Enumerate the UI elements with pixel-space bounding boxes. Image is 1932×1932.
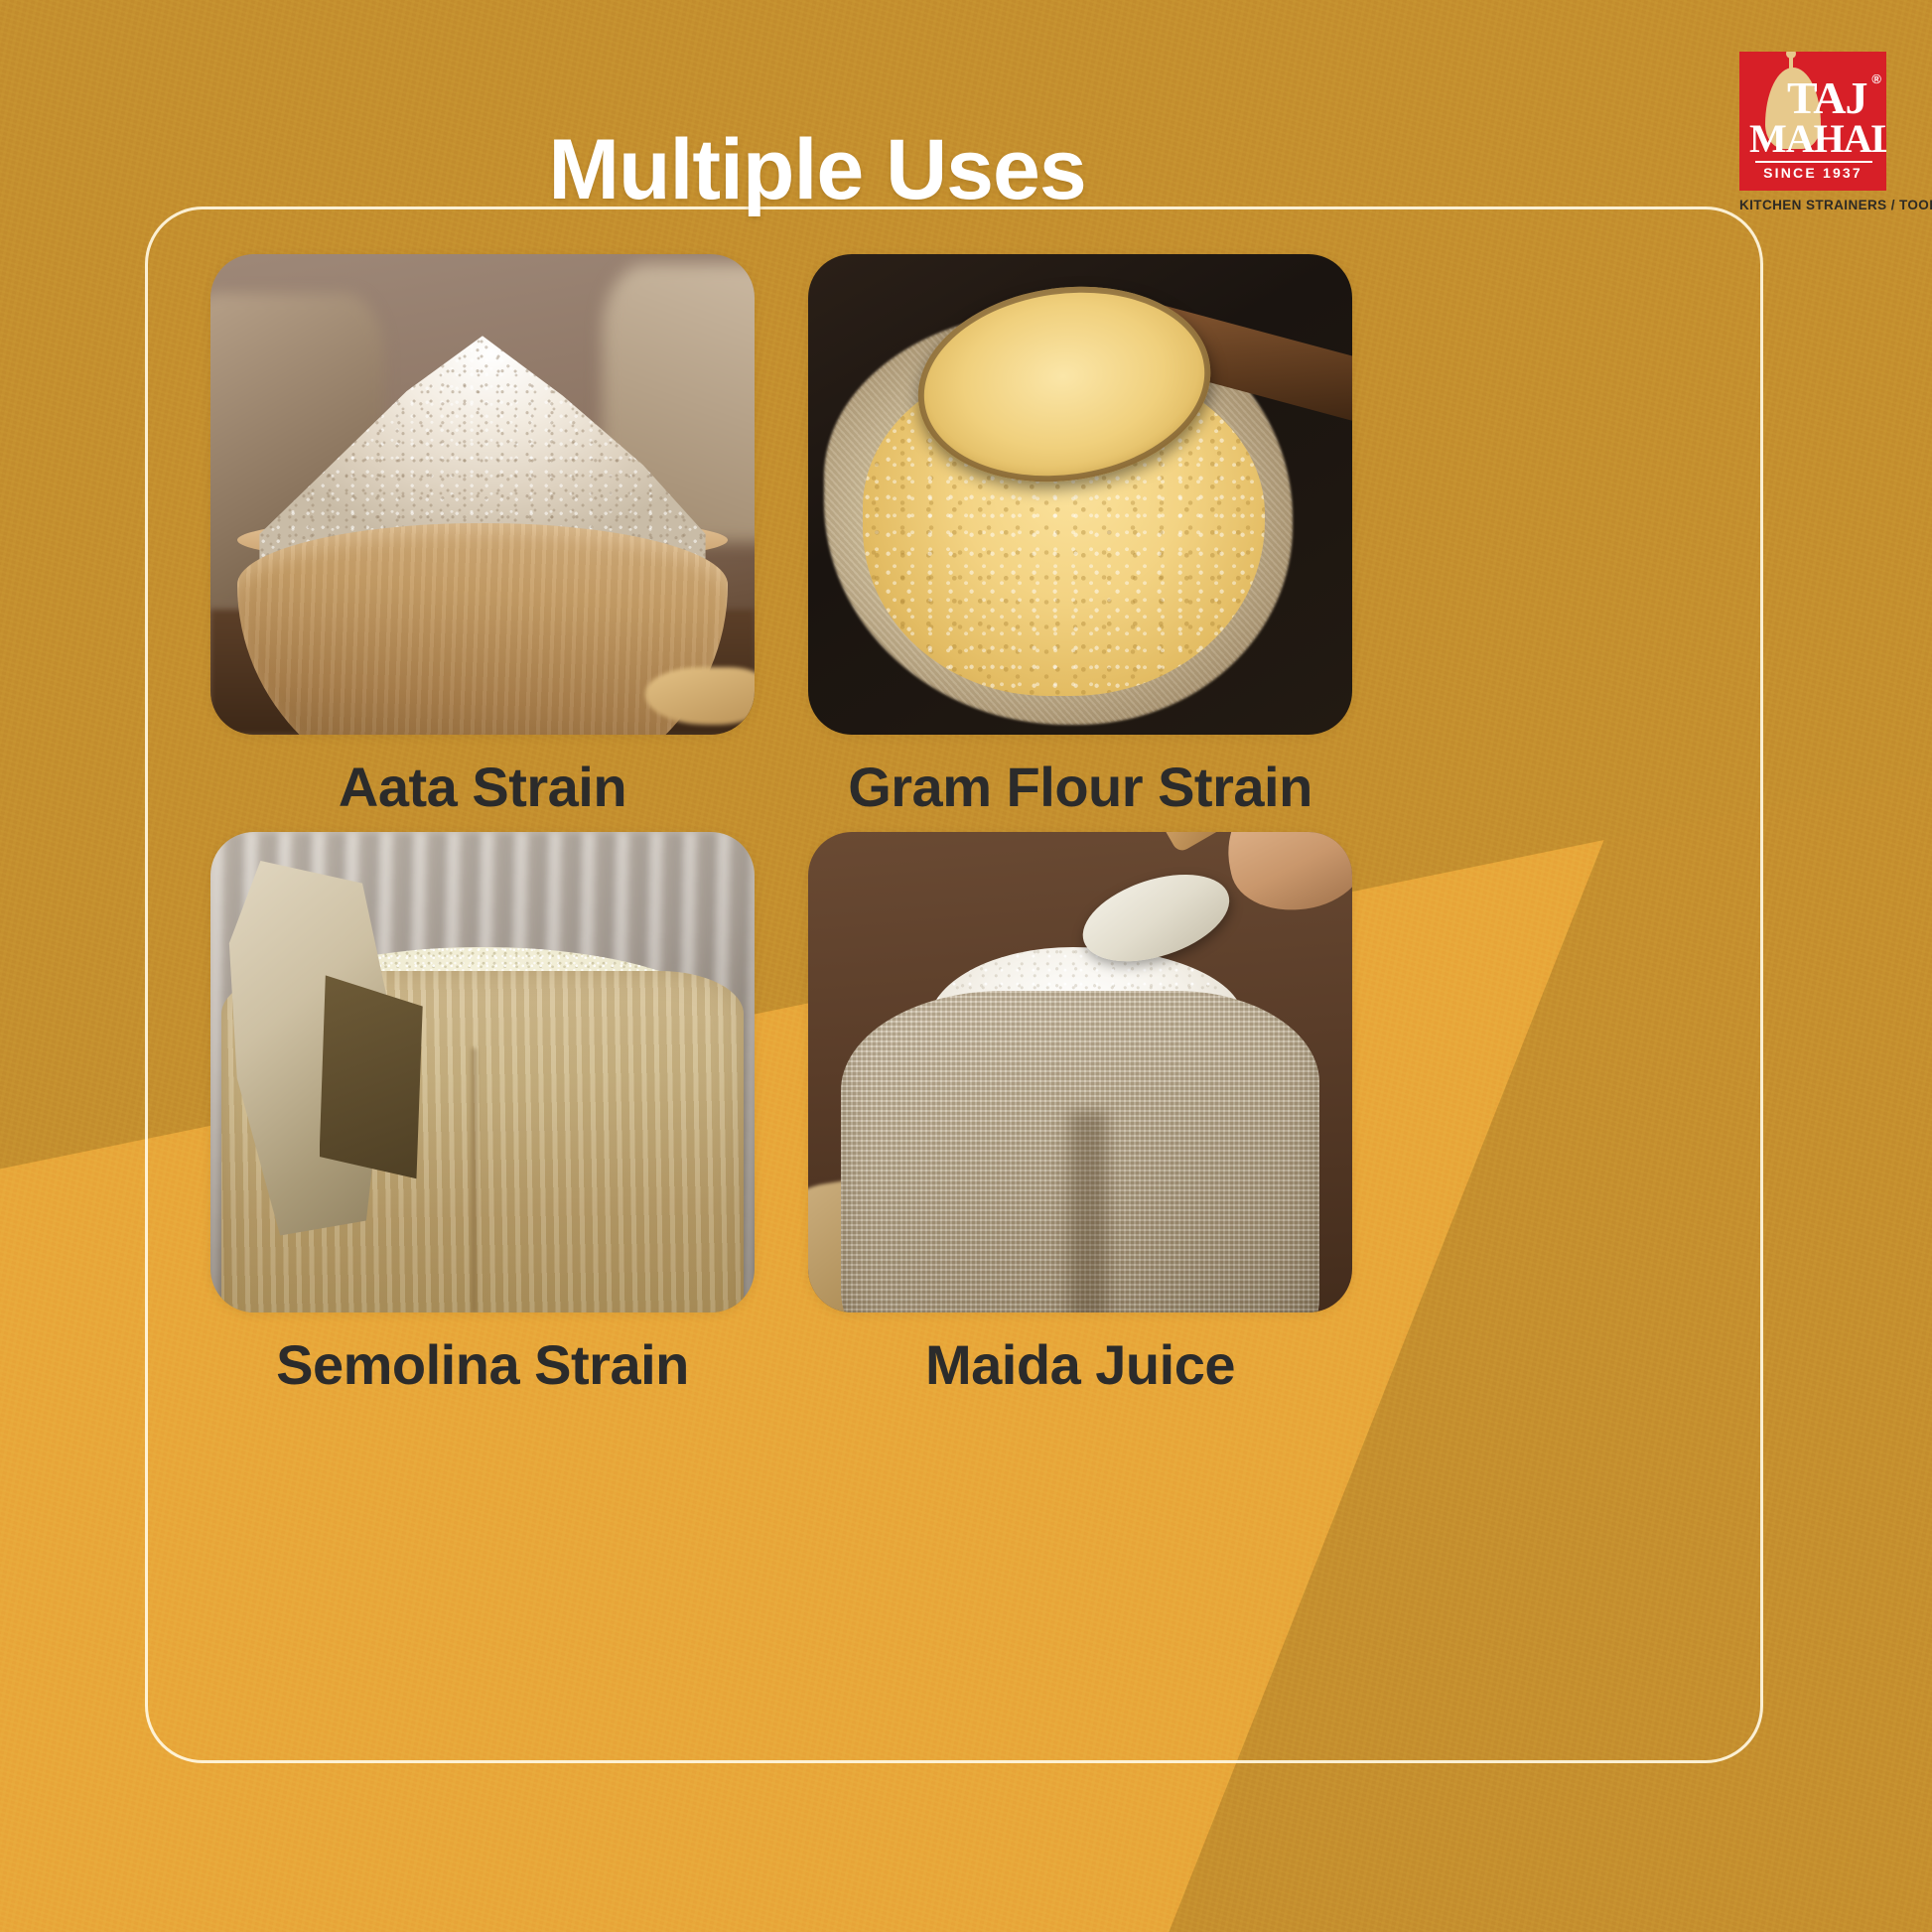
logo-since-text: SINCE 1937 bbox=[1739, 165, 1886, 181]
photo-maida bbox=[808, 832, 1352, 1312]
logo-divider-rule bbox=[1755, 161, 1872, 163]
brand-logo: TAJ ® MAHAL SINCE 1937 KITCHEN STRAINERS… bbox=[1739, 52, 1886, 212]
logo-brand-mahal: MAHAL bbox=[1749, 119, 1880, 159]
use-card-caption: Aata Strain bbox=[210, 759, 755, 817]
use-card-gram-flour[interactable]: Gram Flour Strain bbox=[808, 254, 1352, 817]
use-card-caption: Semolina Strain bbox=[210, 1336, 755, 1395]
photo-aata-flour bbox=[210, 254, 755, 735]
use-card-caption: Maida Juice bbox=[808, 1336, 1352, 1395]
burlap-fold-shadow bbox=[1069, 1111, 1107, 1312]
wooden-bowl-seam bbox=[472, 1048, 477, 1312]
use-card-aata[interactable]: Aata Strain bbox=[210, 254, 755, 817]
logo-mark: TAJ ® MAHAL SINCE 1937 bbox=[1739, 52, 1886, 191]
use-card-semolina[interactable]: Semolina Strain bbox=[210, 832, 755, 1395]
photo-semolina bbox=[210, 832, 755, 1312]
use-card-caption: Gram Flour Strain bbox=[808, 759, 1352, 817]
logo-tagline: KITCHEN STRAINERS / TOOLS bbox=[1739, 198, 1886, 212]
use-card-maida[interactable]: Maida Juice bbox=[808, 832, 1352, 1395]
photo-gram-flour bbox=[808, 254, 1352, 735]
page-title: Multiple Uses bbox=[0, 127, 1932, 212]
logo-brand-taj: TAJ bbox=[1787, 75, 1884, 121]
header: Multiple Uses bbox=[0, 127, 1932, 236]
registered-trademark-icon: ® bbox=[1871, 71, 1881, 86]
